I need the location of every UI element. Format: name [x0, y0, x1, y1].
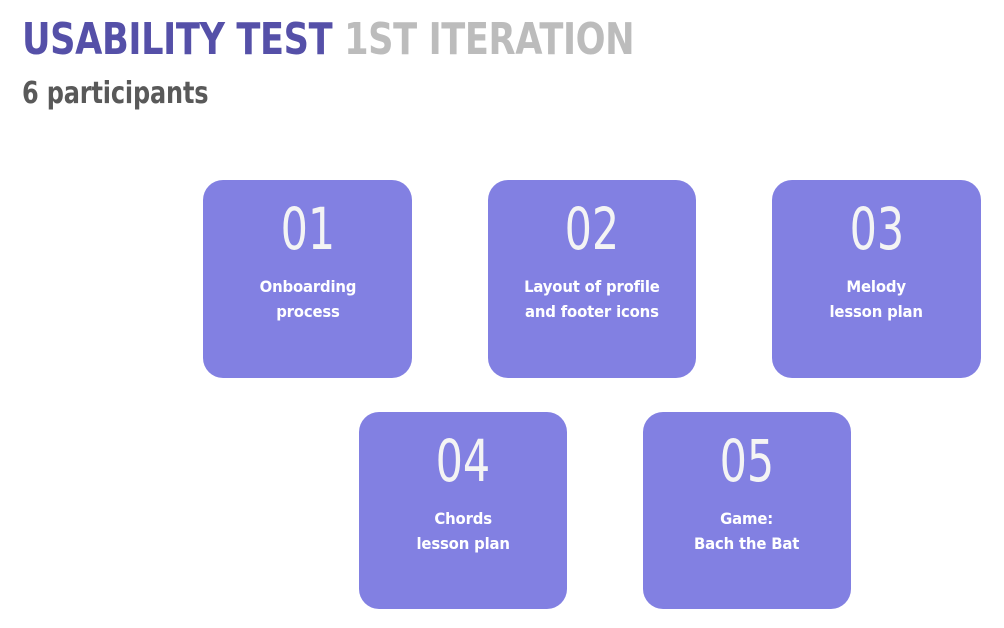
card-game-bach-the-bat[interactable]: 05 Game: Bach the Bat [643, 412, 851, 609]
card-grid: 01 Onboarding process 02 Layout of profi… [0, 0, 1004, 628]
card-number: 05 [720, 430, 775, 492]
card-label: Melody lesson plan [824, 274, 928, 324]
card-layout-of-profile-and-footer-icons[interactable]: 02 Layout of profile and footer icons [488, 180, 696, 378]
card-number: 04 [436, 430, 491, 492]
card-number: 03 [849, 198, 904, 260]
card-chords-lesson-plan[interactable]: 04 Chords lesson plan [359, 412, 567, 609]
card-onboarding-process[interactable]: 01 Onboarding process [203, 180, 412, 378]
card-label: Onboarding process [254, 274, 362, 324]
slide-canvas: USABILITY TEST 1ST ITERATION 6 participa… [0, 0, 1004, 628]
card-number: 01 [280, 198, 335, 260]
card-number: 02 [565, 198, 620, 260]
card-label: Layout of profile and footer icons [519, 274, 666, 324]
card-label: Chords lesson plan [411, 506, 515, 556]
card-melody-lesson-plan[interactable]: 03 Melody lesson plan [772, 180, 981, 378]
card-label: Game: Bach the Bat [689, 506, 805, 556]
